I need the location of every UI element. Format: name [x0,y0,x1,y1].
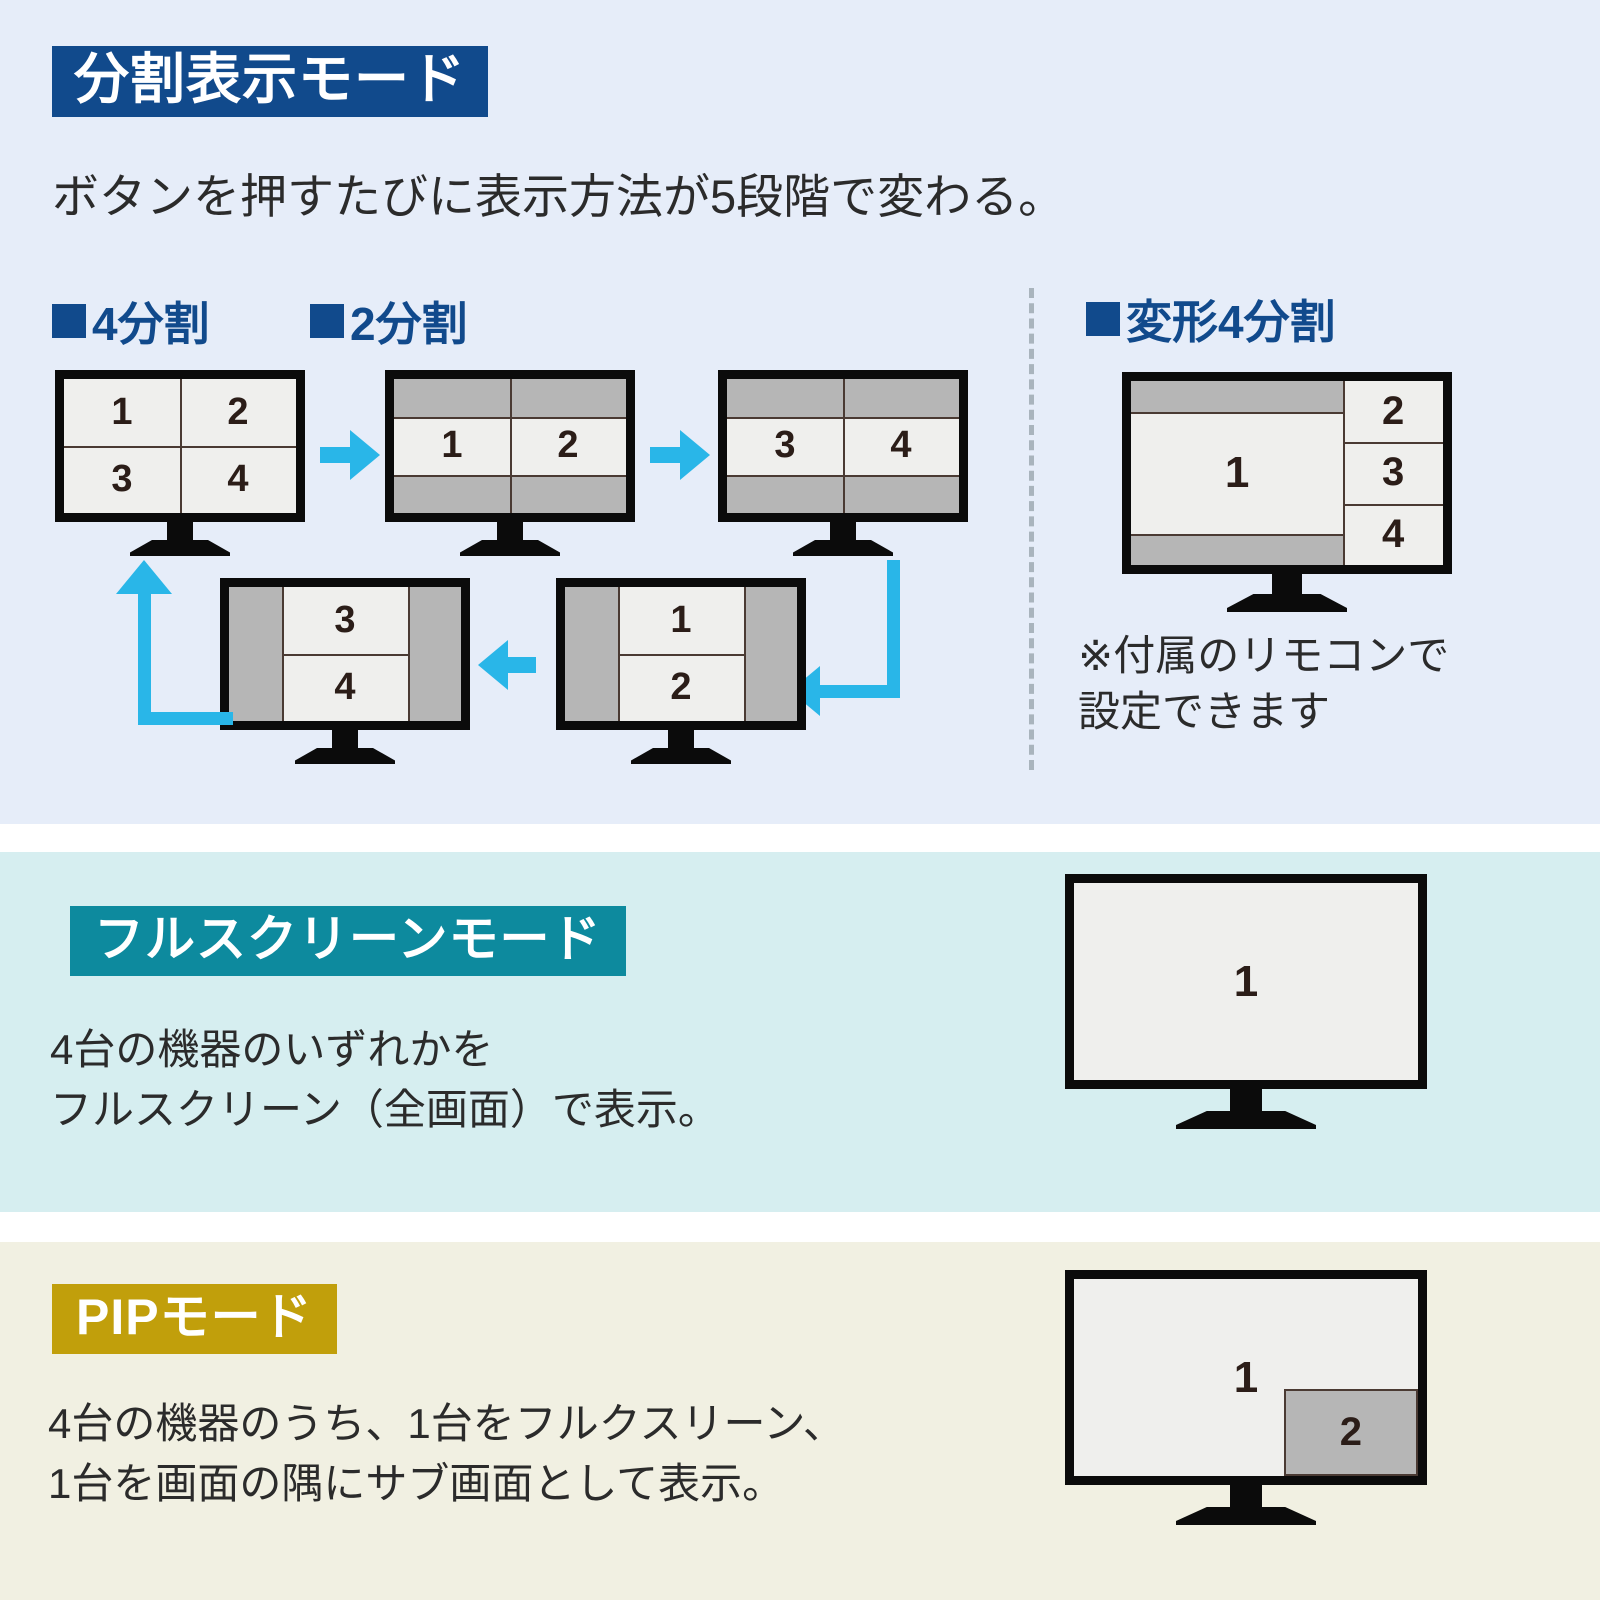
section-fullscreen-mode: フルスクリーンモード 4台の機器のいずれかを フルスクリーン（全画面）で表示。 … [0,852,1600,1212]
monitor-base [793,540,893,556]
monitor-fullscreen: 1 [1065,874,1427,1129]
monitor-neck [332,730,358,748]
pip-mode-badge: PIPモード [52,1284,337,1354]
pane-1: 1 [1131,412,1343,533]
monitor-pip: 1 2 [1065,1270,1427,1525]
arrow-down-left-icon [790,560,920,720]
monitor-base [295,748,395,764]
pane-divider [618,587,620,721]
monitor-dual-bottom: 3 4 [718,370,968,545]
monitor-stack-12: 1 2 [556,578,806,753]
monitor-custom-quad: 1 2 3 4 [1122,372,1452,602]
section-pip-mode: PIPモード 4台の機器のうち、1台をフルクスリーン、 1台を画面の隅にサブ画面… [0,1242,1600,1600]
pip-mode-description: 4台の機器のうち、1台をフルクスリーン、 1台を画面の隅にサブ画面として表示。 [48,1394,845,1513]
arrow-right-icon-1 [320,430,378,480]
pane-blank [1131,381,1343,412]
monitor-neck [497,522,523,540]
monitor-base [460,540,560,556]
pane-3: 3 [64,446,180,513]
pane-blank [1131,534,1343,565]
split-mode-badge: 分割表示モード [52,46,488,117]
monitor-neck [1272,574,1302,594]
pane-divider [843,379,845,513]
fullscreen-mode-badge: フルスクリーンモード [70,906,626,976]
monitor-base [631,748,731,764]
split-mode-description: ボタンを押すたびに表示方法が5段階で変わる。 [52,164,1065,231]
label-dual-split-text: 2分割 [350,288,468,354]
pane-blank [565,587,618,721]
remote-control-note: ※付属のリモコンで 設定できます [1078,628,1449,741]
pane-blank [510,379,626,417]
label-custom-quad-split-text: 変形4分割 [1126,286,1336,352]
monitor-neck [1230,1089,1262,1111]
pane-blank [843,475,959,513]
pane-divider [180,379,182,513]
pane-divider [1343,442,1443,444]
pane-blank [727,379,843,417]
monitor-base [1176,1111,1316,1129]
monitor-neck [1230,1485,1262,1507]
pane-divider [408,587,410,721]
pane-divider [1343,504,1443,506]
pane-divider [744,587,746,721]
pane-3: 3 [1343,442,1443,503]
pane-blank [394,475,510,513]
arrow-up-icon [118,560,248,725]
pane-divider [1343,381,1345,565]
fullscreen-mode-description: 4台の機器のいずれかを フルスクリーン（全画面）で表示。 [50,1020,720,1139]
pane-2-sub: 2 [1284,1389,1418,1476]
pane-2: 2 [618,654,743,721]
monitor-neck [668,730,694,748]
pane-blank [843,379,959,417]
infographic-page: 分割表示モード ボタンを押すたびに表示方法が5段階で変わる。 4分割 2分割 変… [0,0,1600,1600]
pane-divider [1131,534,1343,536]
monitor-neck [830,522,856,540]
pane-3: 3 [282,587,407,654]
pane-4: 4 [1343,504,1443,565]
monitor-base [1227,594,1347,612]
filled-square-icon [52,304,86,338]
filled-square-icon [1086,302,1120,336]
filled-square-icon [310,304,344,338]
monitor-neck [167,522,193,540]
pane-4: 4 [282,654,407,721]
pane-divider [1131,412,1343,414]
pane-2: 2 [510,417,626,476]
section-split-mode: 分割表示モード ボタンを押すたびに表示方法が5段階で変わる。 4分割 2分割 変… [0,0,1600,824]
pane-1: 1 [394,417,510,476]
label-dual-split: 2分割 [310,288,468,354]
pane-4: 4 [180,446,296,513]
label-quad-split: 4分割 [52,288,210,354]
pane-divider [282,587,284,721]
label-custom-quad-split: 変形4分割 [1086,286,1336,352]
pane-4: 4 [843,417,959,476]
pane-3: 3 [727,417,843,476]
monitor-dual-top: 1 2 [385,370,635,545]
monitor-quad-split: 1 2 3 4 [55,370,305,545]
pane-divider [282,654,407,656]
pane-2: 2 [180,379,296,446]
pane-blank [744,587,797,721]
pane-1: 1 [64,379,180,446]
monitor-base [130,540,230,556]
monitor-base [1176,1507,1316,1525]
label-quad-split-text: 4分割 [92,288,210,354]
pane-divider [510,379,512,513]
pane-blank [510,475,626,513]
pane-blank [394,379,510,417]
pane-1: 1 [618,587,743,654]
arrow-left-icon [478,640,536,690]
section-divider-dashed [1029,288,1034,770]
pane-blank [408,587,461,721]
pane-2: 2 [1343,381,1443,442]
pane-divider [618,654,743,656]
arrow-right-icon-2 [650,430,708,480]
pane-blank [727,475,843,513]
monitor-stack-34: 3 4 [220,578,470,753]
pane-1: 1 [1074,883,1418,1080]
